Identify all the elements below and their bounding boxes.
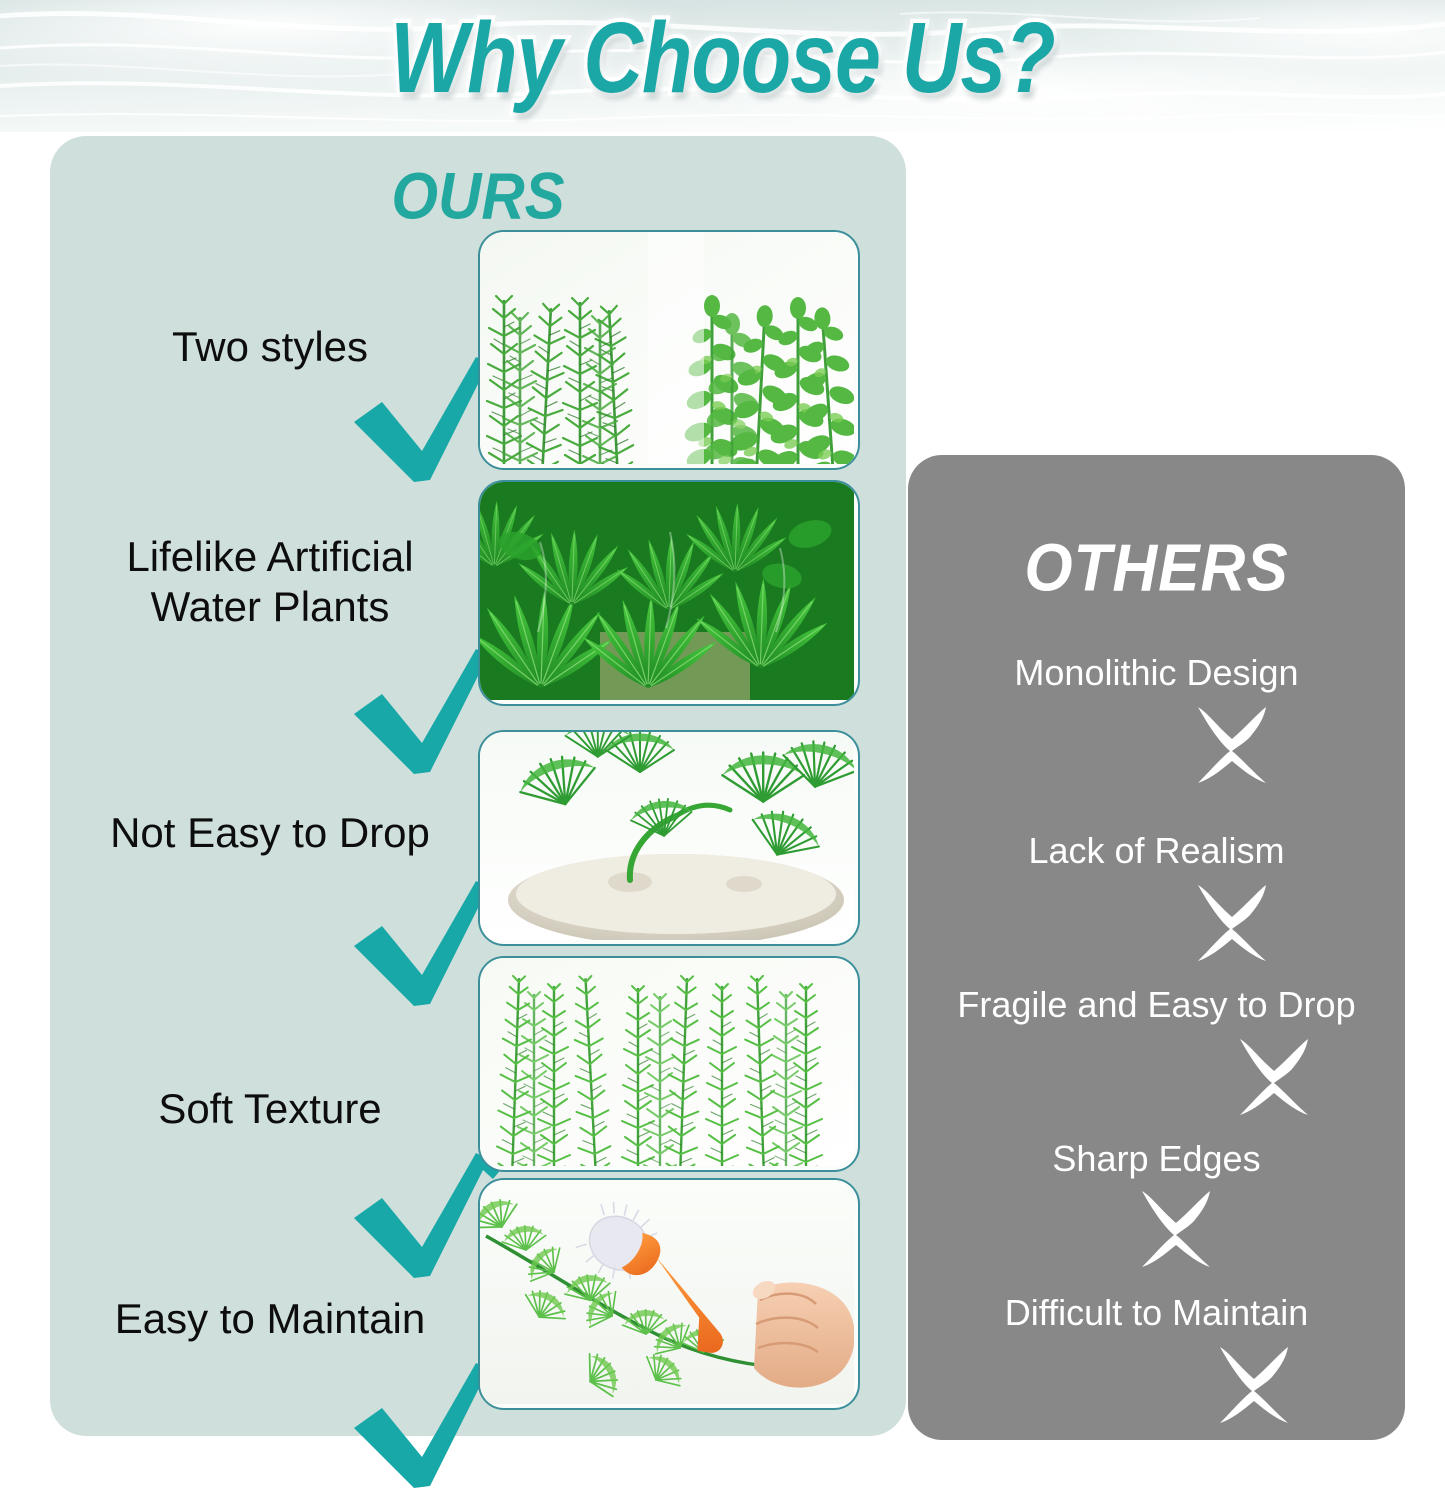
others-row: Monolithic Design <box>908 651 1405 811</box>
ours-photo-soft-texture <box>478 956 860 1172</box>
cross-icon <box>1130 1183 1222 1280</box>
ours-panel: OURS Two styles Lifelike Artificial Wate… <box>50 136 906 1436</box>
cross-icon <box>1186 877 1278 974</box>
ours-photo-easy-maintain <box>478 1178 860 1410</box>
others-row: Difficult to Maintain <box>908 1291 1405 1451</box>
others-row: Sharp Edges <box>908 1137 1405 1305</box>
ours-photo-lifelike-leaves <box>478 480 860 706</box>
ours-item-label: Not Easy to Drop <box>60 808 480 858</box>
cross-icon <box>1208 1339 1300 1436</box>
cross-icon <box>1228 1031 1320 1128</box>
others-item-label: Monolithic Design <box>908 651 1405 695</box>
ours-item-label: Easy to Maintain <box>60 1294 480 1344</box>
others-panel: OTHERS Monolithic Design Lack of Realism… <box>908 455 1405 1440</box>
others-item-label: Lack of Realism <box>908 829 1405 873</box>
cross-icon <box>1186 699 1278 796</box>
ours-photo-two-styles <box>478 230 860 470</box>
ours-item-label: Lifelike Artificial Water Plants <box>60 532 480 632</box>
others-item-label: Sharp Edges <box>908 1137 1405 1181</box>
others-item-label: Fragile and Easy to Drop <box>908 983 1405 1027</box>
ours-item-label: Soft Texture <box>60 1084 480 1134</box>
others-item-label: Difficult to Maintain <box>908 1291 1405 1335</box>
others-row: Fragile and Easy to Drop <box>908 983 1405 1153</box>
page-title: Why Choose Us? <box>22 3 1424 116</box>
ours-photo-weighted-base <box>478 730 860 946</box>
others-row: Lack of Realism <box>908 829 1405 989</box>
others-heading: OTHERS <box>908 530 1405 607</box>
